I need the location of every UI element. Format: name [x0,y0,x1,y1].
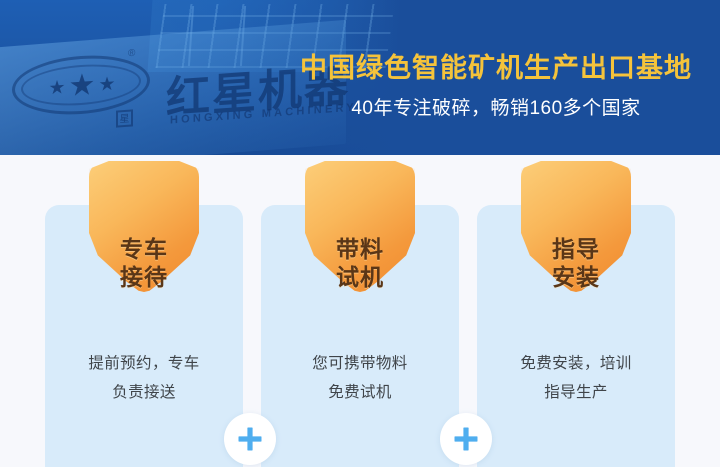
badge-label-3-line2: 安装 [477,263,675,291]
service-description-2-line2: 免费试机 [261,379,459,408]
hero-banner: ★★★ ® 星 红星机器 HONGXING MACHINERY 中国绿色智能矿机… [0,0,720,155]
service-description-3-line2: 指导生产 [477,379,675,408]
plus-icon [237,426,263,452]
service-description-1-line2: 负责接送 [45,379,243,408]
banner-title: 中国绿色智能矿机生产出口基地 [296,46,696,85]
service-card-2[interactable]: 带料 试机 您可携带物料 免费试机 [261,205,459,467]
badge-label-3-line1: 指导 [477,235,675,263]
badge-label-1-line1: 专车 [45,235,243,263]
connector-plus-2 [440,413,492,465]
badge-label-1-line2: 接待 [45,263,243,291]
service-description-3: 免费安装，培训 指导生产 [477,350,675,407]
three-stars-icon: ★★★ [24,62,140,110]
badge-label-2-line2: 试机 [261,263,459,291]
service-description-2: 您可携带物料 免费试机 [261,350,459,407]
plus-icon [453,426,479,452]
badge-label-2: 带料 试机 [261,235,459,291]
registered-trademark-icon: ® [128,48,135,60]
banner-subtitle: 40年专注破碎，畅销160多个国家 [296,93,696,120]
connector-plus-1 [224,413,276,465]
service-card-1[interactable]: 专车 接待 提前预约，专车 负责接送 [45,205,243,467]
service-cards-section: 专车 接待 提前预约，专车 负责接送 带料 试机 您可携带物料 免费试机 指导 … [0,155,720,467]
service-description-2-line1: 您可携带物料 [261,350,459,379]
badge-label-2-line1: 带料 [261,235,459,263]
badge-label-3: 指导 安装 [477,235,675,291]
service-description-1: 提前预约，专车 负责接送 [45,350,243,407]
service-description-1-line1: 提前预约，专车 [45,350,243,379]
logo-square-mark: 星 [116,109,133,127]
service-card-3[interactable]: 指导 安装 免费安装，培训 指导生产 [477,205,675,467]
banner-text-block: 中国绿色智能矿机生产出口基地 40年专注破碎，畅销160多个国家 [296,0,696,155]
badge-label-1: 专车 接待 [45,235,243,291]
service-description-3-line1: 免费安装，培训 [477,350,675,379]
